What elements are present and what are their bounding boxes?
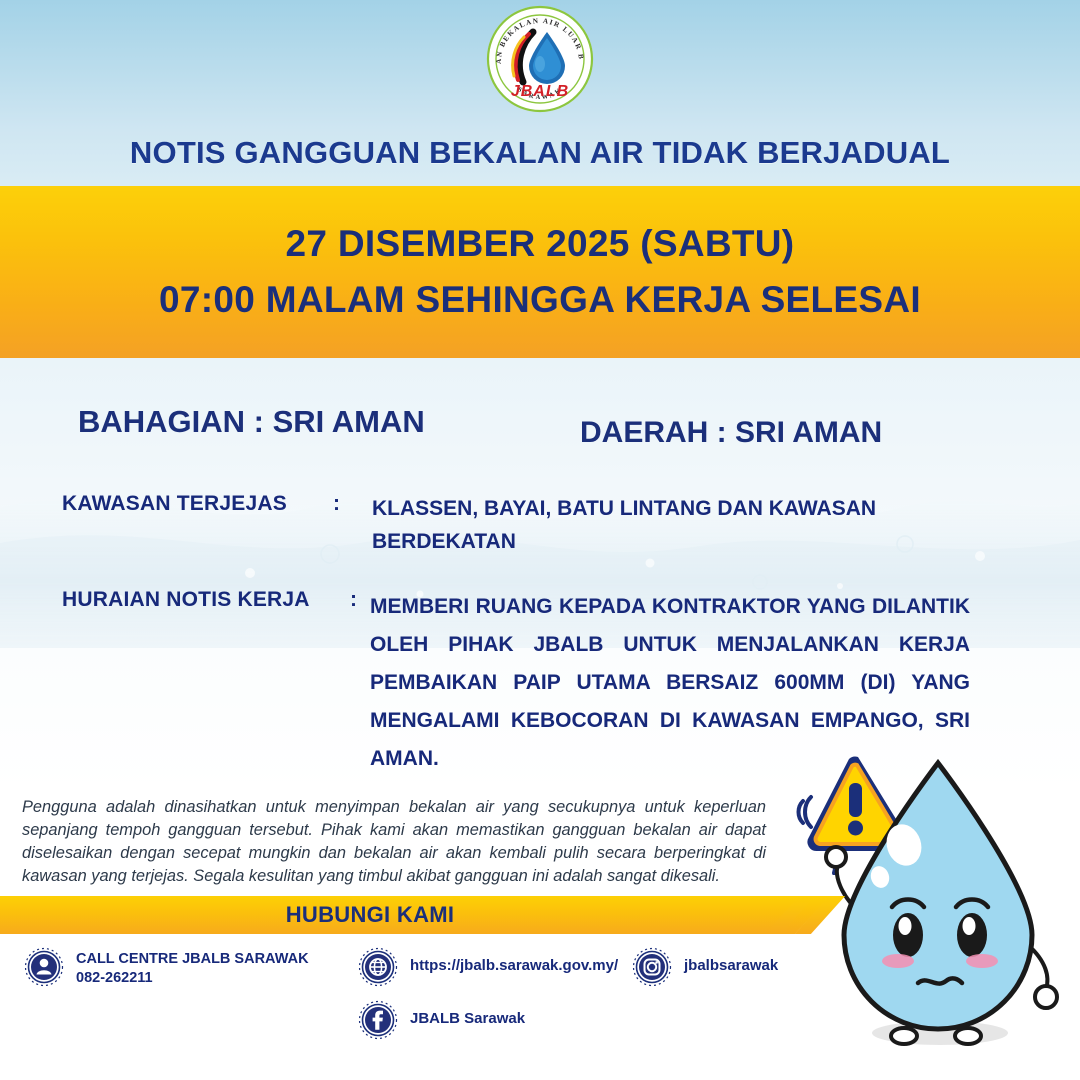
contact-call-centre[interactable]: CALL CENTRE JBALB SARAWAK 082-262211 <box>24 947 309 988</box>
contact-instagram-handle: jbalbsarawak <box>684 957 778 974</box>
water-disruption-notice-poster: JABATAN BEKALAN AIR LUAR BANDAR SARAWAK … <box>0 0 1080 1080</box>
person-icon <box>24 947 64 987</box>
contact-bar: HUBUNGI KAMI <box>0 896 830 934</box>
globe-icon <box>358 947 398 987</box>
facebook-icon <box>358 1000 398 1040</box>
contact-facebook-handle: JBALB Sarawak <box>410 1010 525 1027</box>
notice-date: 27 DISEMBER 2025 (SABTU) <box>286 223 795 265</box>
contact-facebook-text: JBALB Sarawak <box>410 1000 525 1028</box>
work-description-label: HURAIAN NOTIS KERJA <box>62 588 310 612</box>
contact-call-centre-line2: 082-262211 <box>76 969 309 988</box>
notice-title-band: NOTIS GANGGUAN BEKALAN AIR TIDAK BERJADU… <box>0 128 1080 178</box>
notice-time: 07:00 MALAM SEHINGGA KERJA SELESAI <box>159 279 921 321</box>
contact-call-centre-text: CALL CENTRE JBALB SARAWAK 082-262211 <box>76 947 309 988</box>
division-label: BAHAGIAN : SRI AMAN <box>78 404 425 440</box>
affected-area-colon: : <box>333 492 340 516</box>
contact-call-centre-line1: CALL CENTRE JBALB SARAWAK <box>76 951 309 967</box>
affected-area-value: KLASSEN, BAYAI, BATU LINTANG DAN KAWASAN… <box>372 492 972 558</box>
contact-facebook[interactable]: JBALB Sarawak <box>358 1000 525 1040</box>
instagram-icon <box>632 947 672 987</box>
contact-instagram-text: jbalbsarawak <box>684 947 778 975</box>
contact-website-text: https://jbalb.sarawak.gov.my/ <box>410 947 618 975</box>
district-label: DAERAH : SRI AMAN <box>580 416 882 450</box>
contact-instagram[interactable]: jbalbsarawak <box>632 947 778 987</box>
page-title: NOTIS GANGGUAN BEKALAN AIR TIDAK BERJADU… <box>130 135 950 171</box>
svg-text:JBALB: JBALB <box>511 83 569 100</box>
jbalb-logo: JABATAN BEKALAN AIR LUAR BANDAR SARAWAK … <box>485 4 595 114</box>
contact-website-url: https://jbalb.sarawak.gov.my/ <box>410 957 618 974</box>
advisory-paragraph: Pengguna adalah dinasihatkan untuk menyi… <box>22 796 766 888</box>
contact-website[interactable]: https://jbalb.sarawak.gov.my/ <box>358 947 618 987</box>
work-description-colon: : <box>350 588 357 612</box>
affected-area-label: KAWASAN TERJEJAS <box>62 492 287 516</box>
location-row: BAHAGIAN : SRI AMAN DAERAH : SRI AMAN <box>0 404 1080 452</box>
date-banner: 27 DISEMBER 2025 (SABTU) 07:00 MALAM SEH… <box>0 186 1080 358</box>
contact-bar-label: HUBUNGI KAMI <box>286 902 455 928</box>
